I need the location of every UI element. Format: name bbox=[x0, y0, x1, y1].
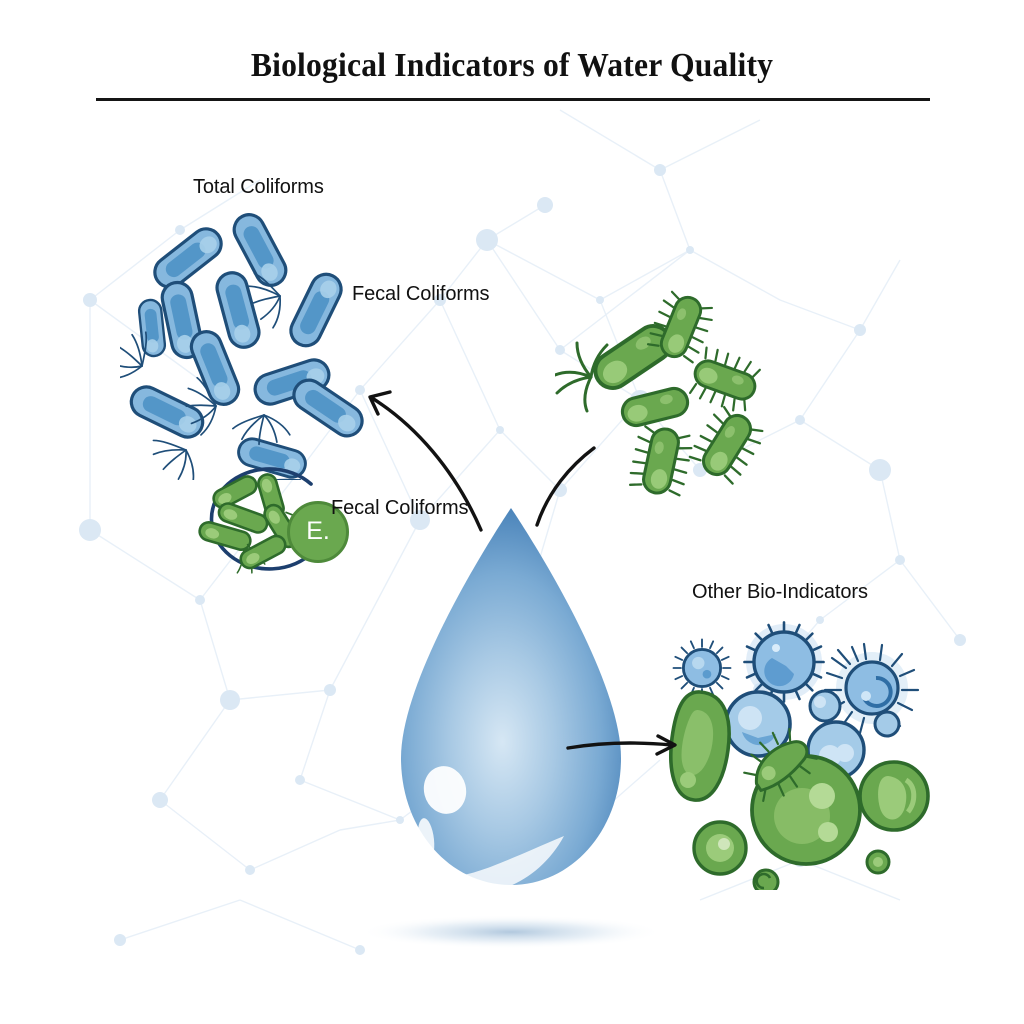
water-drop bbox=[368, 500, 658, 960]
drop-body bbox=[401, 508, 621, 885]
arrowhead-other-bio bbox=[657, 736, 675, 754]
background-network-pattern bbox=[0, 0, 1024, 1024]
label-total-coliforms: Total Coliforms bbox=[193, 176, 324, 199]
ecoli-badge-label: E. bbox=[306, 519, 330, 546]
label-fecal-coliforms-upper: Fecal Coliforms bbox=[352, 283, 489, 306]
other-bio-indicators-cluster bbox=[660, 610, 940, 890]
arrow-to-fecal-coliforms bbox=[537, 448, 594, 525]
page-title: Biological Indicators of Water Quality bbox=[36, 44, 988, 88]
drop-crescent-highlight bbox=[426, 836, 564, 893]
drop-shadow bbox=[368, 915, 658, 949]
arrow-to-other-bio-indicators bbox=[568, 743, 672, 748]
drop-oval-highlight bbox=[419, 762, 471, 819]
title-divider bbox=[96, 98, 930, 101]
infographic-canvas: Biological Indicators of Water Quality bbox=[0, 0, 1024, 1024]
drop-streak-highlight bbox=[416, 817, 437, 862]
fecal-coliforms-cluster bbox=[555, 285, 775, 500]
title-block: Biological Indicators of Water Quality bbox=[0, 44, 1024, 88]
total-coliforms-cluster bbox=[120, 200, 400, 480]
arrowhead-total-coliforms bbox=[370, 392, 390, 414]
label-fecal-coliforms-lower: Fecal Coliforms bbox=[331, 497, 468, 520]
connector-arrows bbox=[0, 0, 1024, 1024]
label-other-bio-indicators: Other Bio-Indicators bbox=[692, 581, 868, 604]
